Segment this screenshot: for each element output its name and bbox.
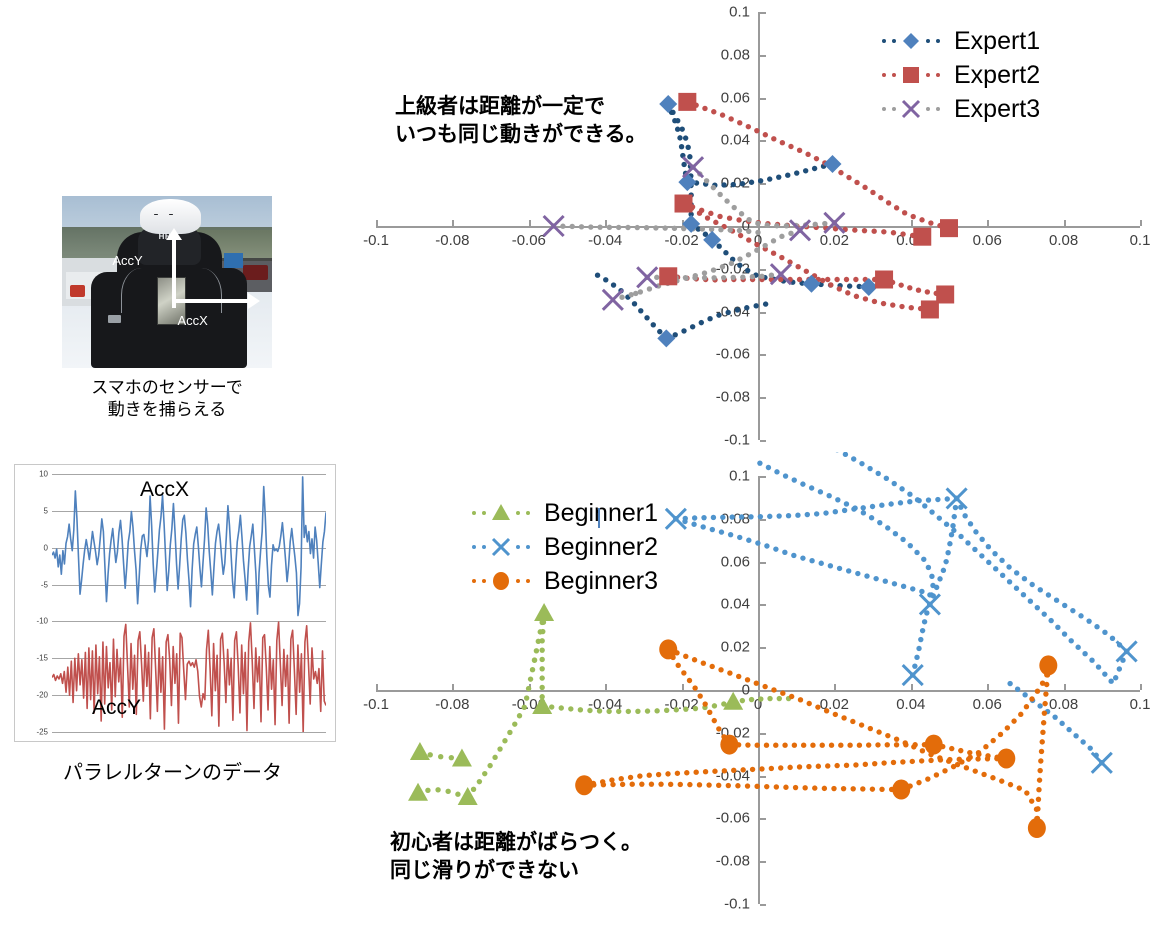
accx-axis-label: AccX <box>178 313 208 328</box>
timeseries-plot-area: 1050-5-10-15-20-25 AccX AccY <box>52 474 326 732</box>
legend-item[interactable]: Expert2 <box>880 58 1040 92</box>
timeseries-y-tick-label: 10 <box>39 470 48 479</box>
legend-marker-triangle-icon <box>470 504 532 522</box>
helmet-vent-right <box>169 214 173 215</box>
timeseries-accy-label: AccY <box>92 696 141 720</box>
accy-axis-label: AccY <box>112 253 142 268</box>
timeseries-gridline: -25 <box>52 732 326 733</box>
accx-arrow-icon <box>173 299 249 303</box>
legend-item[interactable]: Beginner3 <box>470 564 658 598</box>
legend-label: Expert1 <box>954 29 1040 54</box>
beginner-annotation-note: 初心者は距離がばらつく。同じ滑りができない <box>390 828 690 885</box>
photo-car-right-taillight <box>243 265 268 280</box>
ski-photo-block: HH AccY AccX <box>62 196 272 368</box>
stray-tick-mark <box>598 508 600 528</box>
legend-marker-x-icon <box>470 538 532 556</box>
legend-label: Beginner3 <box>544 569 658 594</box>
legend-marker-square-icon <box>880 66 942 84</box>
timeseries-y-tick-label: -10 <box>36 617 48 626</box>
legend-marker-x-icon <box>880 100 942 118</box>
legend-label: Beginner1 <box>544 501 658 526</box>
legend-label: Beginner2 <box>544 535 658 560</box>
expert-legend: Expert1Expert2Expert3 <box>880 24 1040 126</box>
legend-item[interactable]: Beginner2 <box>470 530 658 564</box>
timeseries-y-tick-label: 5 <box>44 506 48 515</box>
timeseries-y-tick-label: -25 <box>36 728 48 737</box>
legend-label: Expert2 <box>954 63 1040 88</box>
timeseries-traces <box>52 474 326 732</box>
accy-arrow-icon <box>172 239 176 308</box>
legend-item[interactable]: Beginner1 <box>470 496 658 530</box>
legend-item[interactable]: Expert1 <box>880 24 1040 58</box>
expert-scatter-chart: -0.1-0.08-0.06-0.04-0.0200.020.040.060.0… <box>370 2 1161 454</box>
photo-taillight <box>70 285 85 297</box>
timeseries-y-tick-label: -20 <box>36 691 48 700</box>
helmet-vent-left <box>154 214 158 215</box>
legend-marker-diamond-icon <box>880 32 942 50</box>
acceleration-timeseries-chart: 1050-5-10-15-20-25 AccX AccY <box>14 464 336 742</box>
timeseries-caption: パラレルターンのデータ <box>0 760 345 786</box>
timeseries-y-tick-label: -5 <box>41 580 48 589</box>
legend-label: Expert3 <box>954 97 1040 122</box>
legend-item[interactable]: Expert3 <box>880 92 1040 126</box>
timeseries-accx-label: AccX <box>140 478 189 502</box>
legend-marker-circle-icon <box>470 572 532 590</box>
photo-sign <box>224 253 243 268</box>
timeseries-y-tick-label: -15 <box>36 654 48 663</box>
timeseries-y-tick-label: 0 <box>44 543 48 552</box>
photo-caption: スマホのセンサーで動きを捕らえる <box>42 378 292 422</box>
expert-chart-series <box>370 2 1161 454</box>
ski-photo-image: HH AccY AccX <box>62 196 272 368</box>
expert-annotation-note: 上級者は距離が一定でいつも同じ動きができる。 <box>395 92 695 149</box>
beginner-legend: Beginner1Beginner2Beginner3 <box>470 496 658 598</box>
photo-reflector-patch <box>108 315 121 324</box>
